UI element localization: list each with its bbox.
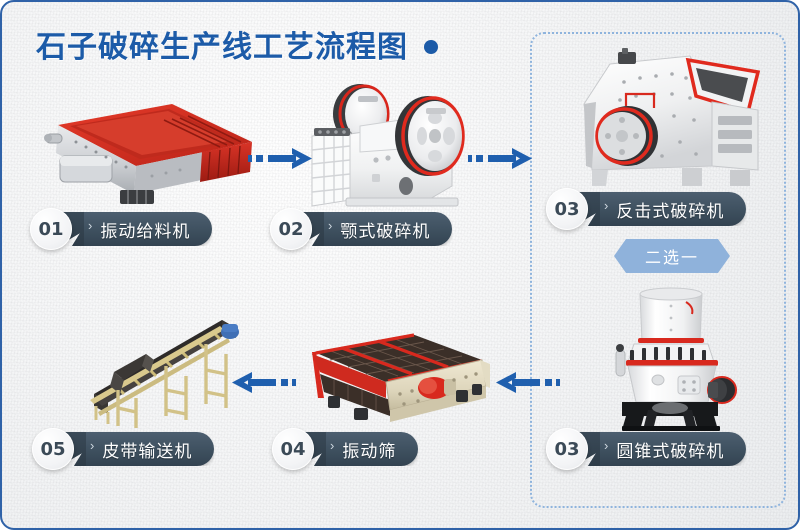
step-01-vibrating-feeder[interactable]: 01 › 振动给料机 — [30, 208, 212, 250]
step-label-02: 颚式破碎机 — [340, 217, 430, 242]
step-number-05: 05 — [32, 428, 74, 470]
step-number-01: 01 — [30, 208, 72, 250]
flow-diagram-page: 石子破碎生产线工艺流程图 — [0, 0, 800, 530]
step-pill-03-impact[interactable]: › 反击式破碎机 — [574, 192, 746, 226]
step-number-02: 02 — [270, 208, 312, 250]
chevron-right-icon: › — [604, 439, 608, 452]
blue-dot-icon — [424, 40, 438, 54]
arrow-feeder-to-jaw — [248, 146, 314, 172]
arrow-cone-to-screen — [494, 370, 560, 396]
step-03-impact-crusher[interactable]: 03 › 反击式破碎机 — [546, 188, 746, 230]
machine-impact-crusher — [562, 44, 772, 194]
chevron-right-icon: › — [604, 199, 608, 212]
step-pill-05[interactable]: › 皮带输送机 — [60, 432, 214, 466]
choose-one-label: 二选一 — [645, 244, 699, 268]
step-label-05: 皮带输送机 — [102, 437, 192, 462]
choose-one-badge: 二选一 — [614, 239, 730, 273]
step-04-vibrating-screen[interactable]: 04 › 振动筛 — [272, 428, 418, 470]
step-number-03-cone: 03 — [546, 428, 588, 470]
step-pill-01[interactable]: › 振动给料机 — [58, 212, 212, 246]
step-number-03-impact: 03 — [546, 188, 588, 230]
step-number-04: 04 — [272, 428, 314, 470]
chevron-right-icon: › — [330, 439, 334, 452]
chevron-right-icon: › — [90, 439, 94, 452]
step-05-belt-conveyor[interactable]: 05 › 皮带输送机 — [32, 428, 214, 470]
machine-belt-conveyor — [80, 302, 270, 432]
machine-vibrating-feeder — [24, 90, 256, 212]
machine-cone-crusher — [582, 284, 752, 434]
step-pill-02[interactable]: › 颚式破碎机 — [298, 212, 452, 246]
chevron-right-icon: › — [88, 219, 92, 232]
machine-jaw-crusher — [302, 74, 484, 214]
machine-vibrating-screen — [294, 324, 494, 442]
page-title: 石子破碎生产线工艺流程图 — [36, 22, 438, 66]
arrow-jaw-to-impact — [468, 146, 534, 172]
chevron-right-icon: › — [328, 219, 332, 232]
page-title-text: 石子破碎生产线工艺流程图 — [36, 22, 408, 66]
step-03-cone-crusher[interactable]: 03 › 圆锥式破碎机 — [546, 428, 746, 470]
step-02-jaw-crusher[interactable]: 02 › 颚式破碎机 — [270, 208, 452, 250]
arrow-screen-to-belt — [230, 370, 296, 396]
step-label-04: 振动筛 — [342, 437, 396, 462]
step-label-03-cone: 圆锥式破碎机 — [616, 437, 724, 462]
step-pill-04[interactable]: › 振动筛 — [300, 432, 418, 466]
step-pill-03-cone[interactable]: › 圆锥式破碎机 — [574, 432, 746, 466]
step-label-03-impact: 反击式破碎机 — [616, 197, 724, 222]
step-label-01: 振动给料机 — [100, 217, 190, 242]
